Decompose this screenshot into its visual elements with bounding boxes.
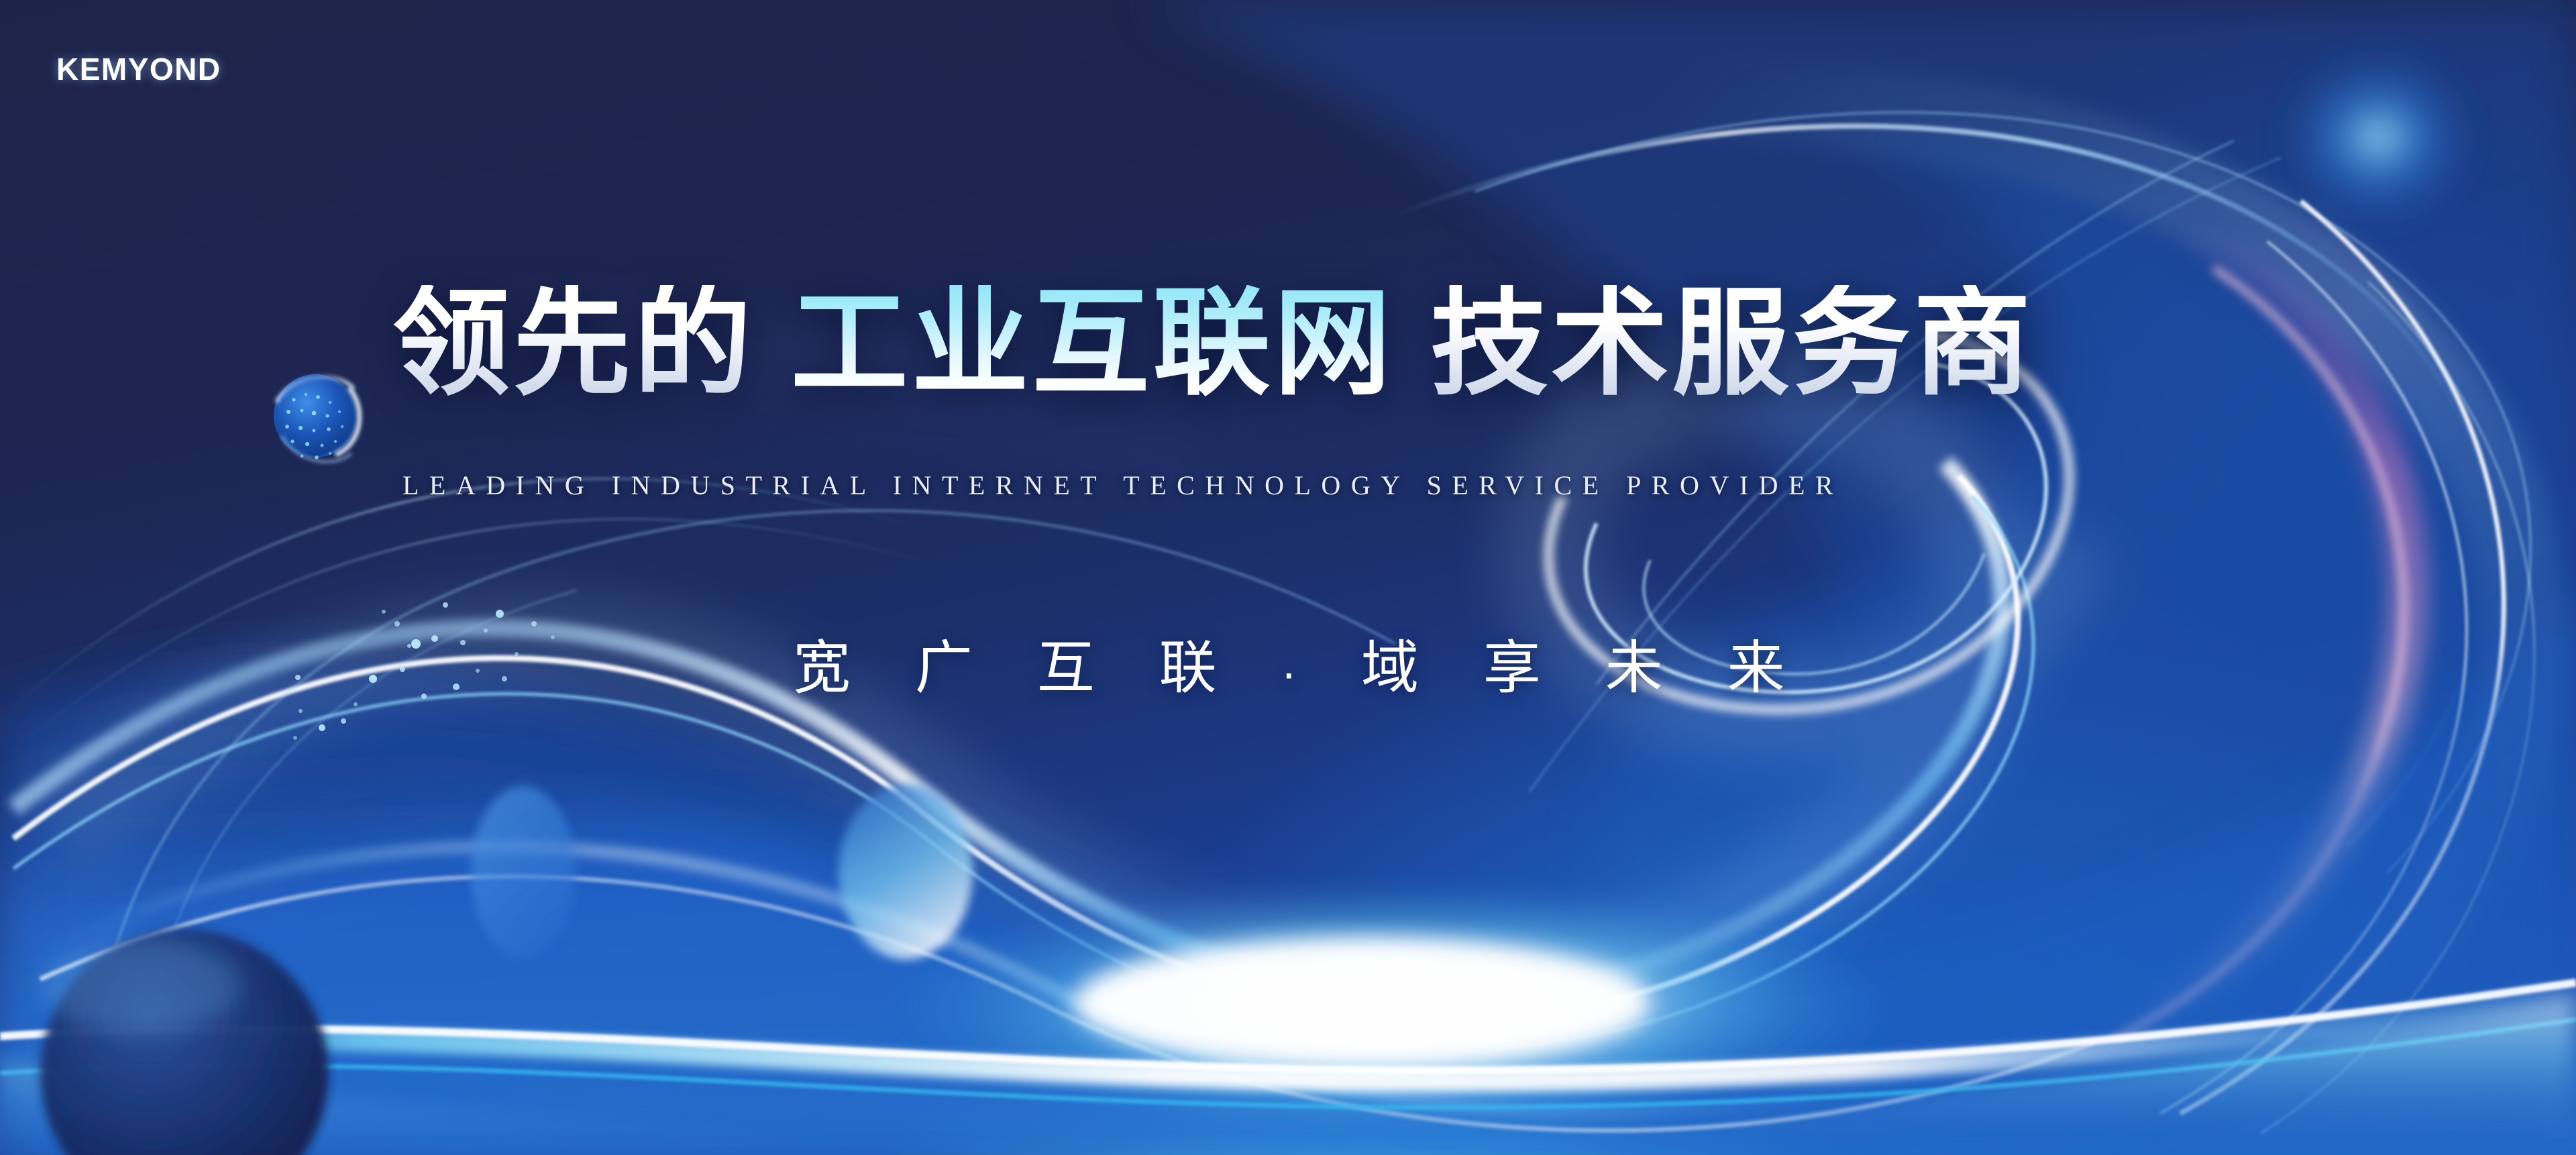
brand-logo-text: KEMYOND — [56, 52, 221, 87]
dotted-sphere-layer — [0, 0, 2576, 1155]
headline-part-highlight: 工业互联网 — [791, 285, 1395, 402]
promo-banner: KEMYOND 领先的 工业互联网 技术服务商 LEADING INDUSTRI… — [0, 0, 2576, 1155]
tagline-separator: · — [1281, 646, 1321, 698]
tagline-right: 域 享 未 来 — [1361, 636, 1809, 700]
headline-part-trailing: 技术服务商 — [1430, 285, 2034, 402]
tagline-left: 宽 广 互 联 — [793, 636, 1241, 700]
tagline: 宽 广 互 联 · 域 享 未 来 — [793, 620, 1809, 704]
headline-part-leading: 领先的 — [392, 285, 755, 402]
headline: 领先的 工业互联网 技术服务商 — [392, 285, 2034, 402]
subheadline: LEADING INDUSTRIAL INTERNET TECHNOLOGY S… — [402, 470, 1843, 501]
brand-logo[interactable]: KEMYOND — [56, 51, 221, 87]
dotted-glass-sphere — [274, 374, 360, 461]
